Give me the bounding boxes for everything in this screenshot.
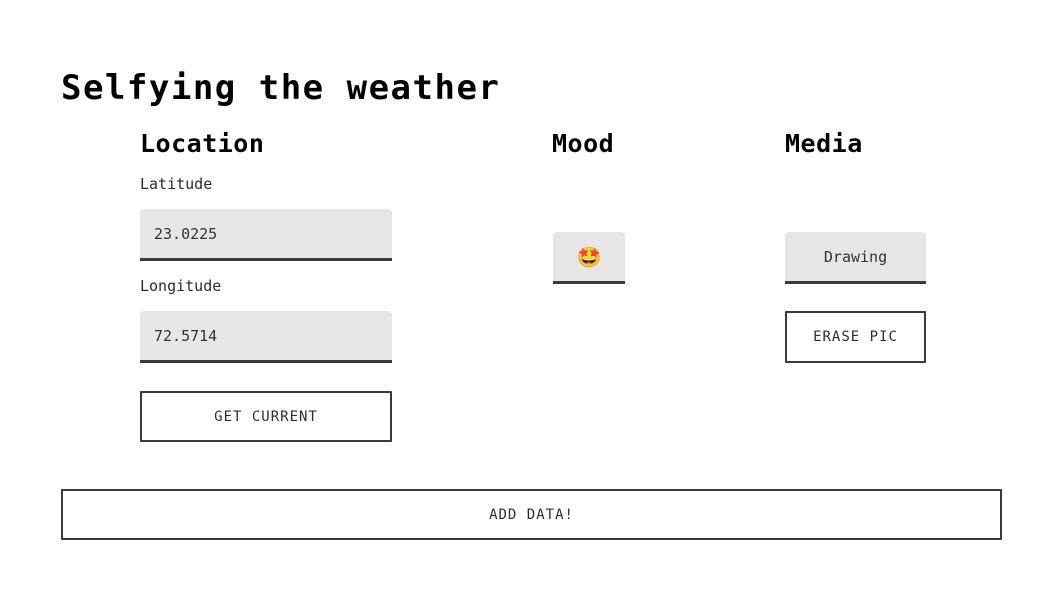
latitude-input[interactable] xyxy=(140,209,392,261)
mood-section: Mood 🤩 xyxy=(552,128,732,160)
longitude-label: Longitude xyxy=(140,276,221,296)
app-page: Selfying the weather Location Latitude L… xyxy=(0,0,1063,599)
get-current-button[interactable]: GET CURRENT xyxy=(140,391,392,442)
mood-select[interactable]: 🤩 xyxy=(553,232,625,284)
location-section-heading: Location xyxy=(140,128,392,160)
location-section: Location Latitude Longitude GET CURRENT xyxy=(140,128,392,160)
page-title: Selfying the weather xyxy=(61,67,500,109)
latitude-label: Latitude xyxy=(140,174,212,194)
media-section-heading: Media xyxy=(785,128,926,160)
add-data-button[interactable]: ADD DATA! xyxy=(61,489,1002,540)
mood-section-heading: Mood xyxy=(552,128,732,160)
media-type-select[interactable]: Drawing xyxy=(785,232,926,284)
media-section: Media Drawing ERASE PIC xyxy=(785,128,926,160)
star-struck-face-emoji: 🤩 xyxy=(577,247,602,267)
erase-pic-button[interactable]: ERASE PIC xyxy=(785,311,926,363)
longitude-input[interactable] xyxy=(140,311,392,363)
